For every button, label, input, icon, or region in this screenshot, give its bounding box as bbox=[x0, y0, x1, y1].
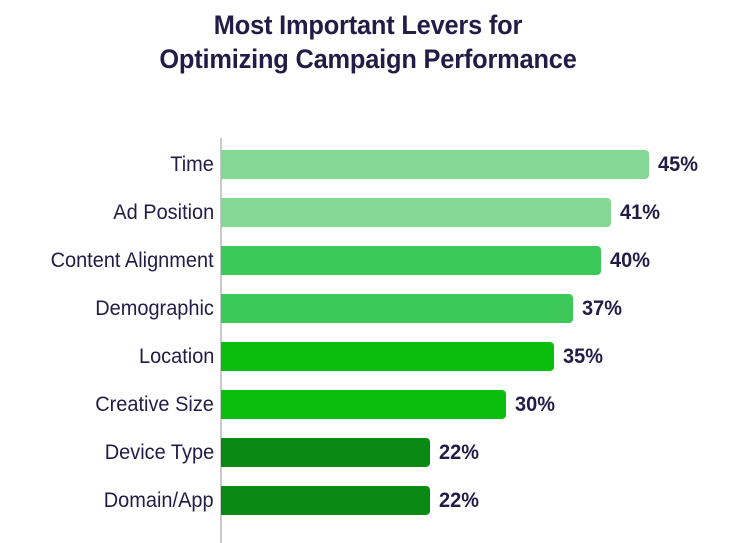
bar-chart-plot-area: Time45%Ad Position41%Content Alignment40… bbox=[0, 136, 736, 543]
bar-category-label: Location bbox=[139, 342, 214, 371]
bar-row: Domain/App22% bbox=[0, 486, 736, 534]
bar-category-label: Time bbox=[170, 150, 214, 179]
bar-value-label: 22% bbox=[439, 438, 479, 467]
bar[interactable] bbox=[221, 150, 649, 179]
bar[interactable] bbox=[221, 486, 430, 515]
bar-category-label: Creative Size bbox=[95, 390, 214, 419]
bar-row: Demographic37% bbox=[0, 294, 736, 342]
bar-category-label: Demographic bbox=[95, 294, 214, 323]
bar-value-label: 35% bbox=[563, 342, 603, 371]
bar-row: Location35% bbox=[0, 342, 736, 390]
bar[interactable] bbox=[221, 294, 573, 323]
bar-value-label: 30% bbox=[515, 390, 555, 419]
bar-value-label: 37% bbox=[582, 294, 622, 323]
bar-row: Creative Size30% bbox=[0, 390, 736, 438]
page-title-line-2: Optimizing Campaign Performance bbox=[22, 42, 714, 76]
bar-value-label: 45% bbox=[658, 150, 698, 179]
chart-page: Most Important Levers for Optimizing Cam… bbox=[0, 0, 736, 543]
bar-value-label: 22% bbox=[439, 486, 479, 515]
bar-category-label: Content Alignment bbox=[51, 246, 214, 275]
bar[interactable] bbox=[221, 342, 554, 371]
bar-category-label: Domain/App bbox=[104, 486, 214, 515]
bar-row: Content Alignment40% bbox=[0, 246, 736, 294]
bar[interactable] bbox=[221, 198, 611, 227]
bar-category-label: Device Type bbox=[105, 438, 214, 467]
bar-value-label: 41% bbox=[620, 198, 660, 227]
bar[interactable] bbox=[221, 246, 601, 275]
bar-row: Device Type22% bbox=[0, 438, 736, 486]
bar-row: Ad Position41% bbox=[0, 198, 736, 246]
bar[interactable] bbox=[221, 390, 506, 419]
page-title: Most Important Levers for Optimizing Cam… bbox=[22, 8, 714, 76]
bar-value-label: 40% bbox=[610, 246, 650, 275]
bar-category-label: Ad Position bbox=[113, 198, 214, 227]
bar[interactable] bbox=[221, 438, 430, 467]
bar-row: Time45% bbox=[0, 150, 736, 198]
page-title-line-1: Most Important Levers for bbox=[22, 8, 714, 42]
